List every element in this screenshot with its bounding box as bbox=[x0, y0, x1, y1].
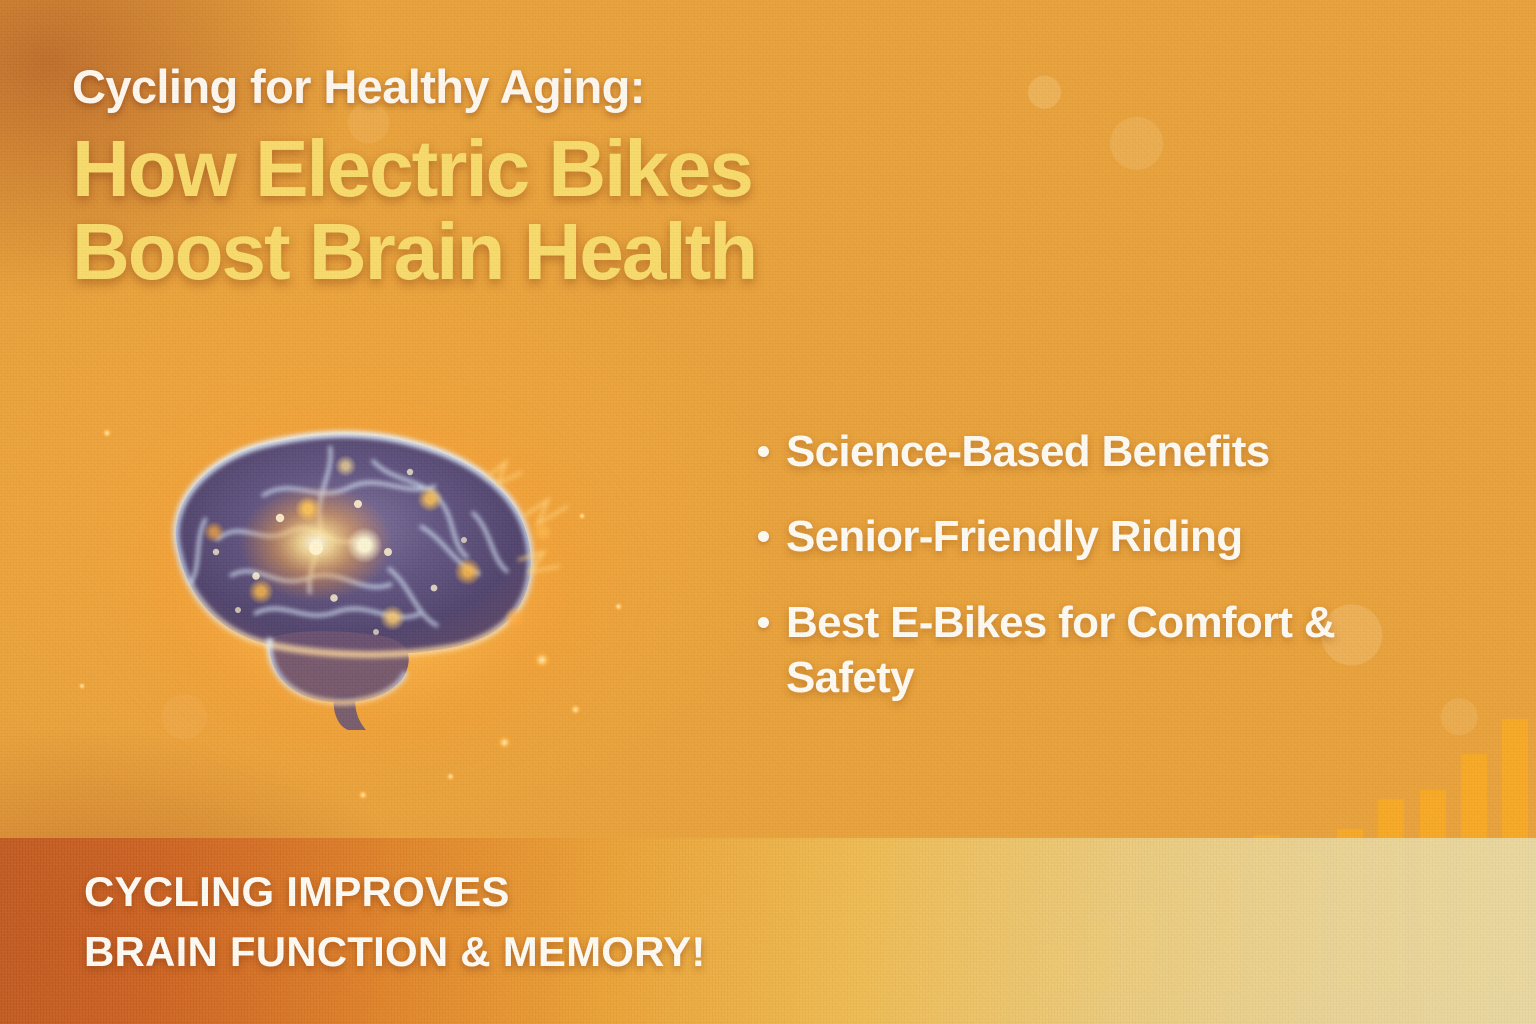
headline-line-1: How Electric Bikes bbox=[72, 127, 972, 210]
kicker-text: Cycling for Healthy Aging: bbox=[72, 62, 972, 112]
headline-block: Cycling for Healthy Aging: How Electric … bbox=[72, 62, 972, 293]
page-title: How Electric Bikes Boost Brain Health bbox=[72, 127, 972, 293]
headline-line-2: Boost Brain Health bbox=[72, 210, 972, 293]
list-item: Senior-Friendly Riding bbox=[758, 509, 1418, 564]
list-item-label: Science-Based Benefits bbox=[786, 424, 1269, 479]
list-item: Science-Based Benefits bbox=[758, 424, 1418, 479]
poster-canvas: Cycling for Healthy Aging: How Electric … bbox=[0, 0, 1536, 1024]
benefits-list: Science-Based Benefits Senior-Friendly R… bbox=[758, 424, 1418, 736]
list-item-label: Best E-Bikes for Comfort & Safety bbox=[786, 595, 1418, 706]
banner-line-2: BRAIN FUNCTION & MEMORY! bbox=[84, 922, 984, 982]
bullet-dot-icon bbox=[758, 617, 769, 628]
banner-text-block: CYCLING IMPROVES BRAIN FUNCTION & MEMORY… bbox=[84, 862, 984, 981]
bullet-dot-icon bbox=[758, 446, 769, 457]
bullet-dot-icon bbox=[758, 531, 769, 542]
list-item-label: Senior-Friendly Riding bbox=[786, 509, 1242, 564]
list-item: Best E-Bikes for Comfort & Safety bbox=[758, 595, 1418, 706]
banner-line-1: CYCLING IMPROVES bbox=[84, 862, 984, 922]
